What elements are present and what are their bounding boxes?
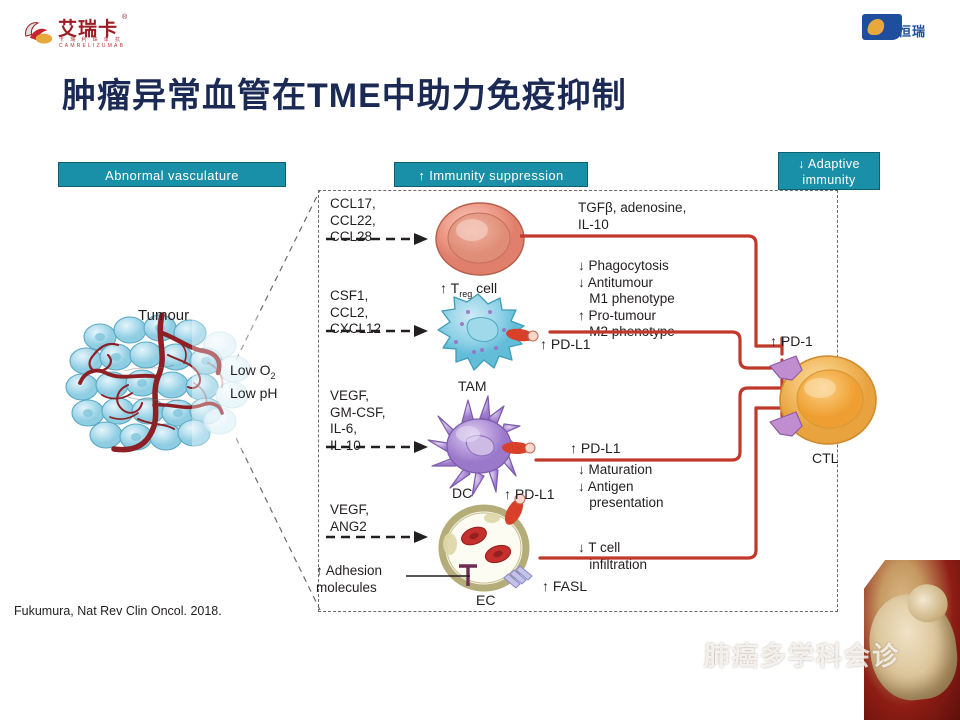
- low-ph-label: Low pH: [230, 385, 277, 401]
- tumour-label: Tumour: [138, 307, 189, 324]
- ctl-cell-icon: [766, 348, 884, 452]
- arrow-to-tam-icon: [326, 324, 430, 338]
- section-header-adaptive-immunity: ↓ Adaptive immunity: [778, 152, 880, 190]
- wechat-watermark: 肺癌多学科会诊: [662, 632, 952, 676]
- wechat-account-name: 肺癌多学科会诊: [704, 636, 900, 673]
- slide: 艾瑞卡 ® 卡 瑞 利 珠 单 抗 CAMRELIZUMAB 恒瑞 肿瘤异常血管…: [0, 0, 960, 720]
- logo-hengrui: 恒瑞: [862, 12, 938, 46]
- logo-sub-cn: 卡 瑞 利 珠 单 抗: [59, 36, 122, 43]
- section-header-immunity-suppression: ↑ Immunity suppression: [394, 162, 588, 187]
- label-adhesion-molecules: ↑ Adhesion molecules: [316, 563, 382, 596]
- arrow-to-ec-icon: [326, 530, 430, 544]
- tumour-conditions-label: Low O2 Low pH: [230, 362, 277, 402]
- adhesion-leader-line: [406, 570, 472, 582]
- ctl-cell-label: CTL: [812, 450, 838, 466]
- arrow-to-dc-icon: [326, 440, 430, 454]
- camrelizumab-mark-icon: [22, 18, 56, 46]
- reference-citation: Fukumura, Nat Rev Clin Oncol. 2018.: [14, 604, 222, 618]
- treg-cell-icon: [432, 200, 528, 278]
- page-title: 肿瘤异常血管在TME中助力免疫抑制: [62, 68, 627, 117]
- logo-trademark: ®: [122, 14, 127, 21]
- logo-sub-en: CAMRELIZUMAB: [59, 43, 125, 49]
- ec-cell-label: EC: [476, 592, 495, 608]
- hengrui-badge-icon: [862, 14, 902, 40]
- hengrui-name-cn: 恒瑞: [898, 21, 926, 40]
- low-o2-label: Low O2: [230, 362, 275, 378]
- arrow-to-treg-icon: [326, 232, 430, 246]
- logo-camrelizumab: 艾瑞卡 ® 卡 瑞 利 珠 单 抗 CAMRELIZUMAB: [22, 12, 142, 52]
- wechat-icon: [662, 641, 696, 667]
- adaptive-line1: ↓ Adaptive: [798, 157, 860, 171]
- figure-canvas: Abnormal vasculature ↑ Immunity suppress…: [0, 140, 960, 630]
- adaptive-line2: immunity: [802, 173, 855, 187]
